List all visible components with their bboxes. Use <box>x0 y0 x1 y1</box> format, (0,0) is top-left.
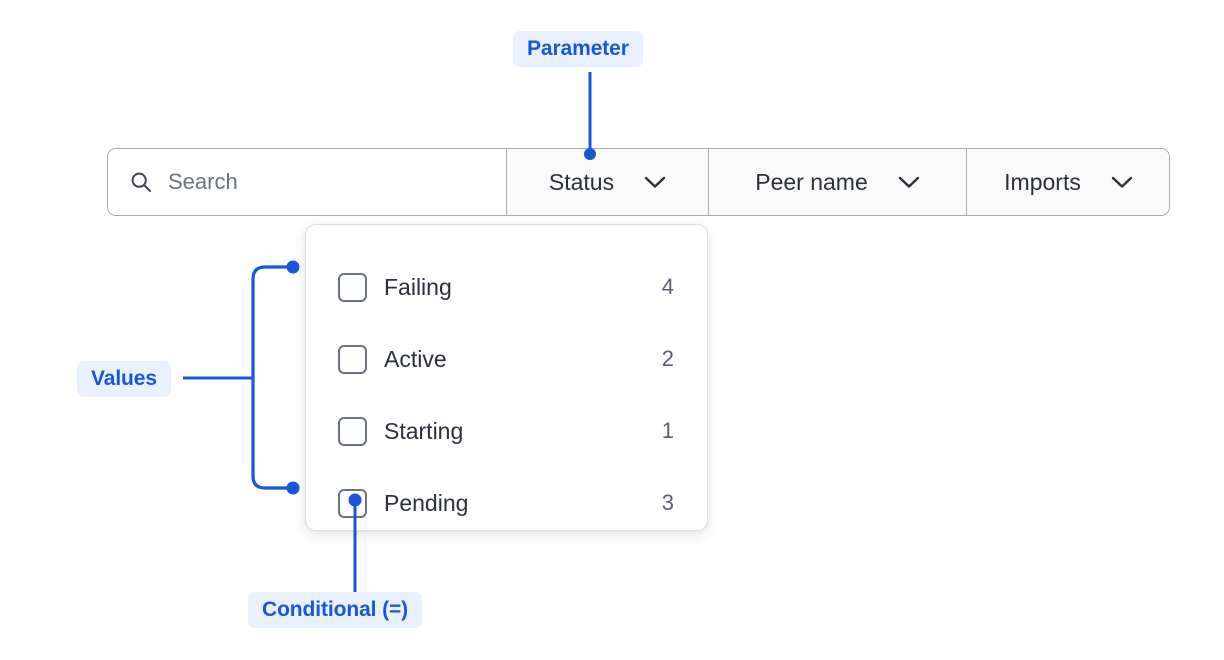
filter-label-imports: Imports <box>1004 169 1081 196</box>
option-count: 2 <box>662 348 674 370</box>
search-input[interactable] <box>168 169 468 195</box>
callout-values: Values <box>77 361 171 397</box>
chevron-down-icon <box>898 175 920 189</box>
checkbox-pending[interactable] <box>338 489 367 518</box>
filter-label-peer-name: Peer name <box>755 169 868 196</box>
filter-label-status: Status <box>549 169 614 196</box>
chevron-down-icon <box>1111 175 1133 189</box>
option-label: Active <box>384 348 662 371</box>
checkbox-failing[interactable] <box>338 273 367 302</box>
checkbox-active[interactable] <box>338 345 367 374</box>
status-dropdown-panel: Failing 4 Active 2 Starting 1 Pending 3 <box>305 224 708 531</box>
option-count: 1 <box>662 420 674 442</box>
list-item[interactable]: Active 2 <box>306 323 707 395</box>
callout-conditional: Conditional (=) <box>248 592 422 628</box>
chevron-down-icon <box>644 175 666 189</box>
list-item[interactable]: Starting 1 <box>306 395 707 467</box>
checkbox-starting[interactable] <box>338 417 367 446</box>
filter-dropdown-imports[interactable]: Imports <box>967 149 1170 215</box>
filter-dropdown-status[interactable]: Status <box>507 149 709 215</box>
connector-values-dot-bottom <box>287 482 300 495</box>
option-count: 3 <box>662 492 674 514</box>
filter-toolbar: Status Peer name Imports <box>107 148 1170 216</box>
connector-values-bracket <box>253 267 293 488</box>
connector-values-dot-top <box>287 261 300 274</box>
option-label: Starting <box>384 420 662 443</box>
search-field[interactable] <box>108 149 507 215</box>
option-count: 4 <box>662 276 674 298</box>
list-item[interactable]: Pending 3 <box>306 467 707 539</box>
callout-parameter: Parameter <box>513 31 643 67</box>
list-item[interactable]: Failing 4 <box>306 251 707 323</box>
option-label: Pending <box>384 492 662 515</box>
search-icon <box>130 171 152 193</box>
option-label: Failing <box>384 276 662 299</box>
filter-dropdown-peer-name[interactable]: Peer name <box>709 149 967 215</box>
